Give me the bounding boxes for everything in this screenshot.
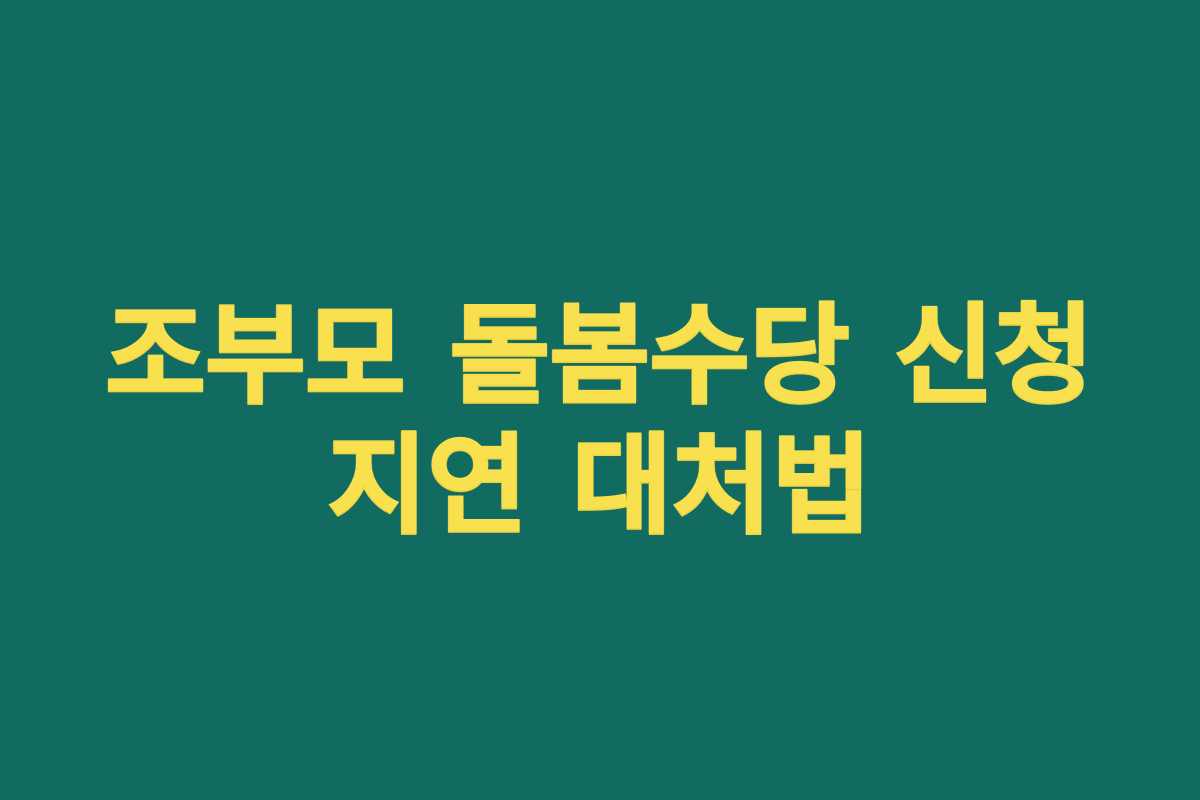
- title-card: 조부모 돌봄수당 신청 지연 대처법: [0, 0, 1200, 800]
- page-title-line-2: 지연 대처법: [106, 422, 1094, 552]
- page-title-line-1: 조부모 돌봄수당 신청: [106, 292, 1094, 422]
- page-title: 조부모 돌봄수당 신청 지연 대처법: [106, 292, 1094, 552]
